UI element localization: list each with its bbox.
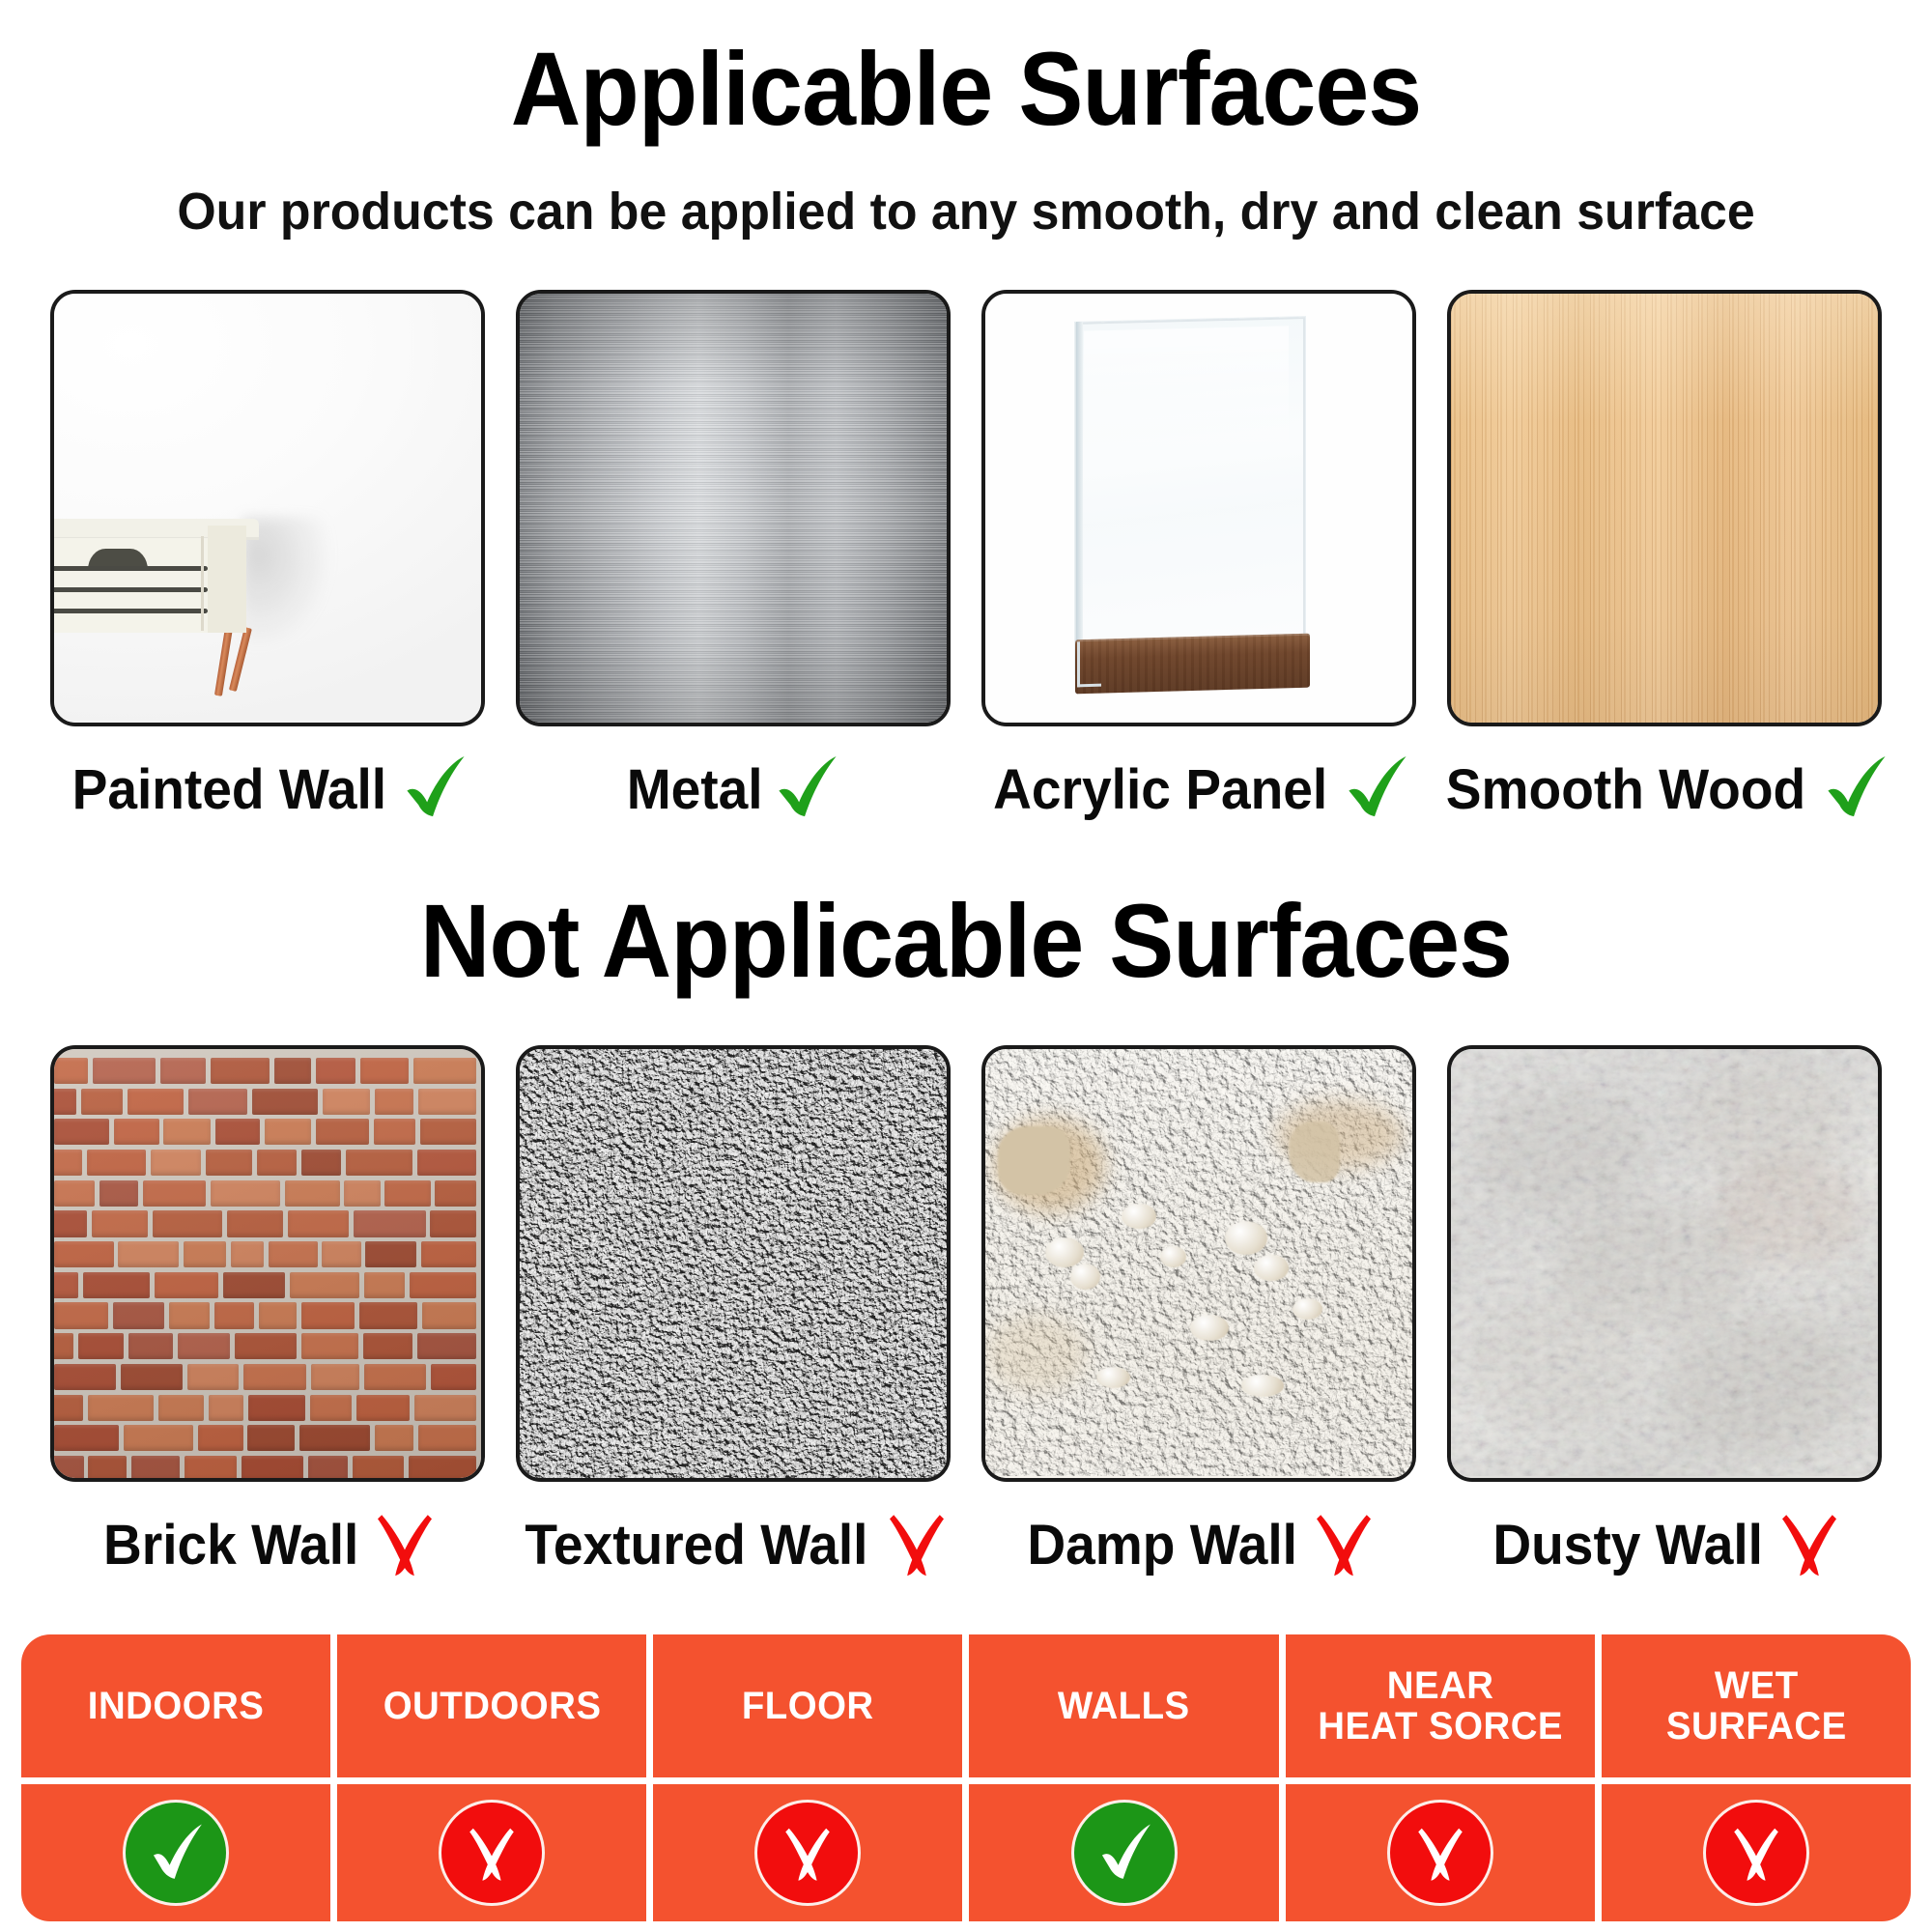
label-metal: Metal	[516, 746, 951, 833]
surface-card-brick-wall	[50, 1045, 485, 1482]
applicable-labels-row: Painted Wall Metal Acrylic Panel Smooth …	[50, 746, 1882, 833]
brick-wall-image	[50, 1045, 485, 1482]
header-line1: WET	[1715, 1664, 1799, 1707]
label-text: Acrylic Panel	[993, 757, 1327, 822]
check-mark-icon	[1342, 753, 1413, 825]
painted-wall-image	[50, 290, 485, 726]
check-mark-icon	[400, 753, 471, 825]
not-applicable-labels-row: Brick Wall Textured Wall Damp Wall Dusty…	[50, 1501, 1882, 1588]
dust-texture	[1451, 1049, 1878, 1476]
label-text: Painted Wall	[71, 757, 386, 822]
surface-card-damp-wall	[981, 1045, 1416, 1482]
cross-mark-icon	[1310, 1511, 1378, 1578]
label-text: Damp Wall	[1027, 1513, 1297, 1577]
textured-wall-image	[516, 1045, 951, 1482]
label-smooth-wood: Smooth Wood	[1447, 746, 1882, 833]
status-badge-cross-icon	[1706, 1803, 1806, 1903]
header-line1: NEAR	[1386, 1664, 1493, 1707]
label-damp-wall: Damp Wall	[981, 1501, 1416, 1588]
infographic-page: Applicable Surfaces Our products can be …	[0, 0, 1932, 1932]
applicable-surfaces-grid	[50, 290, 1882, 726]
damp-wall-image	[981, 1045, 1416, 1482]
surface-card-painted-wall	[50, 290, 485, 726]
label-brick-wall: Brick Wall	[50, 1501, 485, 1588]
label-textured-wall: Textured Wall	[516, 1501, 951, 1588]
surface-card-metal	[516, 290, 951, 726]
label-text: Textured Wall	[525, 1513, 867, 1577]
header-line1: WALLS	[1058, 1685, 1190, 1727]
label-text: Brick Wall	[103, 1513, 358, 1577]
header-line1: FLOOR	[742, 1685, 874, 1727]
acrylic-panel-image	[981, 290, 1416, 726]
status-badge-check-icon	[126, 1803, 226, 1903]
table-status-floor	[653, 1784, 962, 1921]
surface-card-textured-wall	[516, 1045, 951, 1482]
status-badge-cross-icon	[1390, 1803, 1491, 1903]
header-line2: HEAT SORCE	[1318, 1705, 1563, 1747]
label-dusty-wall: Dusty Wall	[1447, 1501, 1882, 1588]
status-badge-check-icon	[1074, 1803, 1175, 1903]
label-text: Dusty Wall	[1492, 1513, 1763, 1577]
surface-card-acrylic-panel	[981, 290, 1416, 726]
header-line1: OUTDOORS	[383, 1685, 601, 1727]
check-mark-icon	[772, 753, 843, 825]
header-line2: SURFACE	[1665, 1705, 1846, 1747]
status-badge-cross-icon	[757, 1803, 858, 1903]
usage-conditions-table: INDOORS OUTDOORS FLOOR WALLS NEAR HEAT S…	[21, 1634, 1911, 1915]
table-header-outdoors: OUTDOORS	[337, 1634, 646, 1777]
label-text: Metal	[627, 757, 763, 822]
stucco-texture	[516, 1045, 951, 1482]
label-text: Smooth Wood	[1446, 757, 1805, 822]
not-applicable-surfaces-title: Not Applicable Surfaces	[68, 889, 1864, 993]
table-status-wet-surface	[1602, 1784, 1911, 1921]
cross-mark-icon	[371, 1511, 439, 1578]
status-badge-cross-icon	[441, 1803, 542, 1903]
cross-mark-icon	[883, 1511, 951, 1578]
applicable-surfaces-title: Applicable Surfaces	[68, 37, 1864, 141]
smooth-wood-image	[1447, 290, 1882, 726]
dusty-wall-image	[1447, 1045, 1882, 1482]
check-mark-icon	[1821, 753, 1892, 825]
not-applicable-surfaces-grid	[50, 1045, 1882, 1482]
table-header-wet-surface: WET SURFACE	[1602, 1634, 1911, 1777]
header-line1: INDOORS	[88, 1685, 265, 1727]
surface-card-smooth-wood	[1447, 290, 1882, 726]
table-status-outdoors	[337, 1784, 646, 1921]
table-header-near-heat-sorce: NEAR HEAT SORCE	[1286, 1634, 1595, 1777]
label-painted-wall: Painted Wall	[50, 746, 485, 833]
surface-card-dusty-wall	[1447, 1045, 1882, 1482]
table-status-walls	[969, 1784, 1278, 1921]
table-header-floor: FLOOR	[653, 1634, 962, 1777]
table-status-near-heat-sorce	[1286, 1784, 1595, 1921]
table-status-indoors	[21, 1784, 330, 1921]
table-header-indoors: INDOORS	[21, 1634, 330, 1777]
table-header-walls: WALLS	[969, 1634, 1278, 1777]
brushed-metal-image	[516, 290, 951, 726]
label-acrylic-panel: Acrylic Panel	[981, 746, 1416, 833]
subtitle-text: Our products can be applied to any smoot…	[39, 182, 1893, 241]
cross-mark-icon	[1776, 1511, 1843, 1578]
